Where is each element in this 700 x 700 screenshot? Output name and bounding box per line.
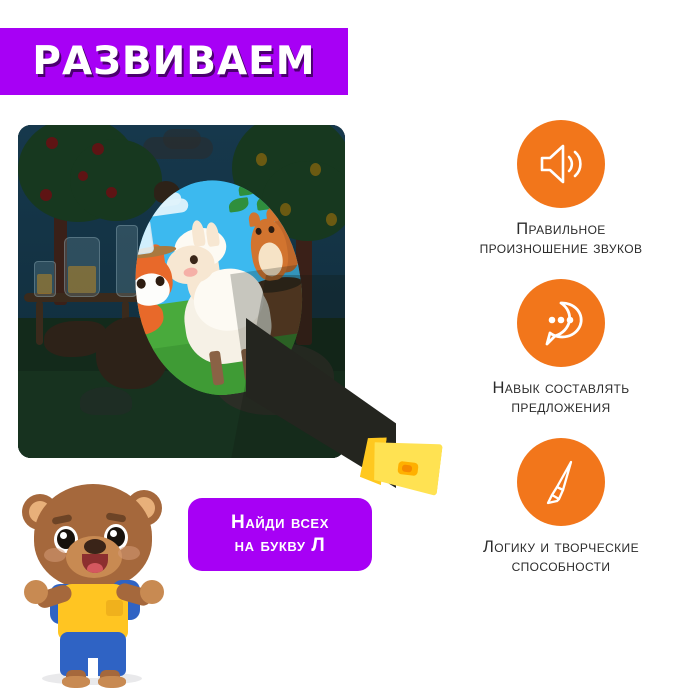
- header-band: РАЗВИВАЕМ: [0, 28, 348, 95]
- apple-icon: [92, 143, 104, 155]
- feature-line: Правильное: [480, 220, 643, 239]
- bear-shorts-gap: [88, 658, 98, 678]
- page-root: РАЗВИВАЕМ: [0, 0, 700, 700]
- jug-icon: [64, 237, 100, 297]
- flashlight-switch-inner: [402, 464, 413, 472]
- paintbrush-icon: [533, 454, 589, 510]
- speech-bubble-icon: [533, 295, 589, 351]
- bear-shirt-pocket: [106, 600, 123, 616]
- cloud-icon: [163, 129, 201, 149]
- task-badge[interactable]: Найди всех на букву Л: [188, 498, 372, 571]
- bear-foot-right: [98, 676, 126, 688]
- pear-icon: [326, 213, 337, 226]
- bear-mascot: [14, 476, 174, 690]
- fox-tail-silhouette: [44, 321, 106, 357]
- glass-icon: [130, 221, 154, 255]
- juice-fill: [68, 266, 96, 293]
- bear-foot-left: [62, 676, 90, 688]
- bear-paw-left: [24, 580, 48, 604]
- bear-blush-left: [44, 548, 66, 562]
- pear-icon: [310, 163, 321, 176]
- apple-icon: [78, 171, 88, 181]
- speaker-icon: [534, 137, 588, 191]
- feature-line: способности: [483, 557, 639, 576]
- task-badge-line-1: Найди всех: [231, 513, 329, 533]
- pear-icon: [256, 153, 267, 166]
- bear-eye-glint-left: [60, 532, 67, 539]
- feature-label-creativity: Логику и творческие способности: [483, 538, 639, 577]
- turtle-silhouette: [80, 387, 132, 415]
- apple-icon: [40, 189, 52, 201]
- bear-blush-right: [118, 546, 140, 560]
- speech-bubble-icon-circle: [517, 279, 605, 367]
- task-badge-line-2: на букву Л: [235, 536, 326, 556]
- speaker-icon-circle: [517, 120, 605, 208]
- page-title: РАЗВИВАЕМ: [32, 39, 315, 84]
- feature-list: Правильное произношение звуков Навык сос…: [430, 120, 692, 597]
- feature-line: произношение звуков: [480, 239, 643, 258]
- feature-label-sentences: Навык составлять предложения: [492, 379, 629, 418]
- feature-label-pronunciation: Правильное произношение звуков: [480, 220, 643, 259]
- apple-icon: [106, 187, 117, 198]
- feature-item-creativity[interactable]: Логику и творческие способности: [430, 438, 692, 577]
- paintbrush-icon-circle: [517, 438, 605, 526]
- bear-tongue: [87, 563, 103, 573]
- feature-line: Логику и творческие: [483, 538, 639, 557]
- feature-line: Навык составлять: [492, 379, 629, 398]
- feature-item-pronunciation[interactable]: Правильное произношение звуков: [430, 120, 692, 259]
- feature-item-sentences[interactable]: Навык составлять предложения: [430, 279, 692, 418]
- feature-line: предложения: [492, 398, 629, 417]
- bear-eye-glint-right: [110, 530, 117, 537]
- glass-icon: [34, 261, 56, 297]
- bear-paw-right: [140, 580, 164, 604]
- table-leg: [36, 301, 43, 345]
- apple-icon: [46, 137, 58, 149]
- juice-fill: [37, 274, 52, 294]
- bear-nose: [84, 539, 106, 554]
